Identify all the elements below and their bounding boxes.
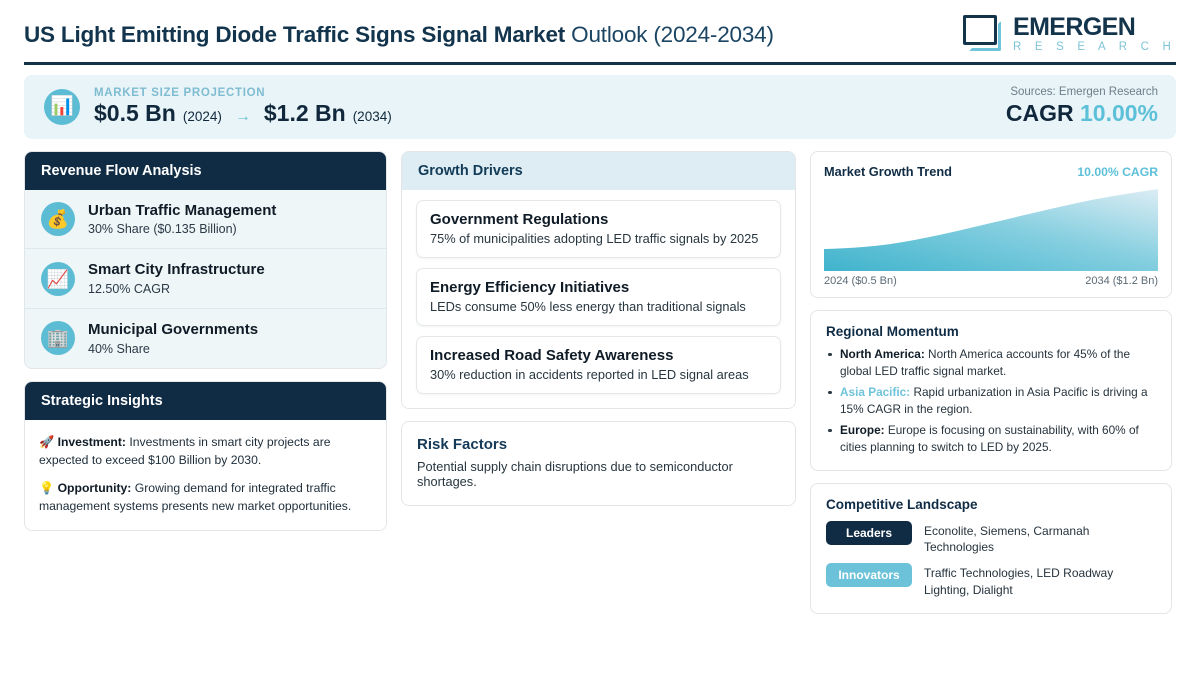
competitive-landscape-title: Competitive Landscape xyxy=(826,497,1156,512)
revenue-row-text: Urban Traffic Management 30% Share ($0.1… xyxy=(88,202,276,237)
revenue-row-name: Municipal Governments xyxy=(88,321,258,340)
innovators-badge: Innovators xyxy=(826,563,912,587)
right-column: Market Growth Trend 10.00% CAGR xyxy=(810,151,1172,614)
chart-increasing-icon: 📈 xyxy=(41,262,75,296)
regional-item: Asia Pacific: Rapid urbanization in Asia… xyxy=(826,384,1156,418)
market-size-start-value: $0.5 Bn xyxy=(94,100,176,127)
strategic-insights-title: Strategic Insights xyxy=(25,382,386,420)
growth-driver-name: Increased Road Safety Awareness xyxy=(430,347,767,364)
insight-item: 🚀 Investment: Investments in smart city … xyxy=(39,433,372,470)
regional-item-region: North America: xyxy=(840,347,925,361)
chart-axis-labels: 2024 ($0.5 Bn) 2034 ($1.2 Bn) xyxy=(824,275,1158,287)
growth-driver-item: Energy Efficiency Initiatives LEDs consu… xyxy=(416,268,781,326)
risk-factors-card: Risk Factors Potential supply chain disr… xyxy=(401,421,796,506)
chart-title: Market Growth Trend xyxy=(824,164,952,179)
competitive-row: Leaders Econolite, Siemens, Carmanah Tec… xyxy=(826,521,1156,555)
regional-momentum-list: North America: North America accounts fo… xyxy=(826,346,1156,457)
competitive-row: Innovators Traffic Technologies, LED Roa… xyxy=(826,563,1156,597)
banner-text-group: MARKET SIZE PROJECTION $0.5 Bn (2024) → … xyxy=(94,87,392,127)
risk-factors-title: Risk Factors xyxy=(417,436,780,453)
cagr-value: 10.00% xyxy=(1080,100,1158,126)
growth-driver-item: Government Regulations 75% of municipali… xyxy=(416,200,781,258)
regional-item-region: Europe: xyxy=(840,423,885,437)
growth-driver-detail: 75% of municipalities adopting LED traff… xyxy=(430,231,767,246)
market-size-end-year: (2034) xyxy=(353,109,392,124)
revenue-row: 💰 Urban Traffic Management 30% Share ($0… xyxy=(25,190,386,250)
regional-item-text: Europe is focusing on sustainability, wi… xyxy=(840,423,1139,454)
page-title: US Light Emitting Diode Traffic Signs Si… xyxy=(24,21,774,48)
banner-figures: $0.5 Bn (2024) → $1.2 Bn (2034) xyxy=(94,100,392,127)
revenue-flow-title: Revenue Flow Analysis xyxy=(25,152,386,190)
chart-header: Market Growth Trend 10.00% CAGR xyxy=(824,164,1158,179)
revenue-row-text: Municipal Governments 40% Share xyxy=(88,321,258,356)
growth-driver-item: Increased Road Safety Awareness 30% redu… xyxy=(416,336,781,394)
page-title-subtitle: Outlook (2024-2034) xyxy=(565,22,774,47)
growth-drivers-card: Growth Drivers Government Regulations 75… xyxy=(401,151,796,409)
brand-logo: EMERGEN R E S E A R C H xyxy=(961,15,1176,54)
banner-label: MARKET SIZE PROJECTION xyxy=(94,87,392,99)
light-bulb-icon: 💡 xyxy=(39,481,54,495)
chart-svg xyxy=(824,189,1158,271)
growth-driver-name: Government Regulations xyxy=(430,211,767,228)
revenue-flow-card: Revenue Flow Analysis 💰 Urban Traffic Ma… xyxy=(24,151,387,369)
infographic-page: US Light Emitting Diode Traffic Signs Si… xyxy=(0,0,1200,700)
growth-drivers-body: Government Regulations 75% of municipali… xyxy=(402,190,795,408)
growth-driver-detail: 30% reduction in accidents reported in L… xyxy=(430,367,767,382)
chart-cagr-label: 10.00% CAGR xyxy=(1077,165,1158,179)
revenue-row: 🏢 Municipal Governments 40% Share xyxy=(25,309,386,368)
growth-drivers-title: Growth Drivers xyxy=(402,152,795,190)
growth-driver-name: Energy Efficiency Initiatives xyxy=(430,279,767,296)
revenue-row-name: Smart City Infrastructure xyxy=(88,261,265,280)
strategic-insights-body: 🚀 Investment: Investments in smart city … xyxy=(25,420,386,530)
revenue-row-detail: 40% Share xyxy=(88,342,258,356)
sources-label: Sources: Emergen Research xyxy=(1006,86,1158,98)
header-divider xyxy=(24,62,1176,65)
growth-driver-detail: LEDs consume 50% less energy than tradit… xyxy=(430,299,767,314)
revenue-row: 📈 Smart City Infrastructure 12.50% CAGR xyxy=(25,249,386,309)
page-title-main: US Light Emitting Diode Traffic Signs Si… xyxy=(24,22,565,47)
logo-wordmark: EMERGEN R E S E A R C H xyxy=(1013,15,1176,54)
money-bag-icon: 💰 xyxy=(41,202,75,236)
market-growth-trend-card: Market Growth Trend 10.00% CAGR xyxy=(810,151,1172,298)
leaders-companies: Econolite, Siemens, Carmanah Technologie… xyxy=(924,521,1156,555)
leaders-badge: Leaders xyxy=(826,521,912,545)
bar-chart-icon: 📊 xyxy=(44,89,80,125)
office-building-icon: 🏢 xyxy=(41,321,75,355)
revenue-row-name: Urban Traffic Management xyxy=(88,202,276,221)
market-size-banner: 📊 MARKET SIZE PROJECTION $0.5 Bn (2024) … xyxy=(24,75,1176,139)
arrow-right-icon: → xyxy=(229,108,257,126)
insight-label: Investment: xyxy=(58,435,126,449)
logo-square-icon xyxy=(961,15,1003,53)
regional-momentum-title: Regional Momentum xyxy=(826,324,1156,339)
revenue-row-text: Smart City Infrastructure 12.50% CAGR xyxy=(88,261,265,296)
left-column: Revenue Flow Analysis 💰 Urban Traffic Ma… xyxy=(24,151,387,531)
insight-label: Opportunity: xyxy=(58,481,132,495)
cagr-display: CAGR 10.00% xyxy=(1006,100,1158,127)
content-columns: Revenue Flow Analysis 💰 Urban Traffic Ma… xyxy=(24,151,1176,614)
banner-left-group: 📊 MARKET SIZE PROJECTION $0.5 Bn (2024) … xyxy=(44,87,392,127)
strategic-insights-card: Strategic Insights 🚀 Investment: Investm… xyxy=(24,381,387,531)
market-size-end-value: $1.2 Bn xyxy=(264,100,346,127)
chart-area-path xyxy=(824,189,1158,271)
revenue-row-detail: 12.50% CAGR xyxy=(88,282,265,296)
regional-item-region: Asia Pacific: xyxy=(840,385,910,399)
logo-primary-text: EMERGEN xyxy=(1013,15,1176,40)
competitive-landscape-card: Competitive Landscape Leaders Econolite,… xyxy=(810,483,1172,614)
risk-factors-text: Potential supply chain disruptions due t… xyxy=(417,459,780,489)
regional-item: North America: North America accounts fo… xyxy=(826,346,1156,380)
rocket-icon: 🚀 xyxy=(39,435,54,449)
logo-secondary-text: R E S E A R C H xyxy=(1013,42,1176,54)
revenue-row-detail: 30% Share ($0.135 Billion) xyxy=(88,222,276,236)
regional-momentum-card: Regional Momentum North America: North A… xyxy=(810,310,1172,472)
market-size-start-year: (2024) xyxy=(183,109,222,124)
middle-column: Growth Drivers Government Regulations 75… xyxy=(401,151,796,506)
innovators-companies: Traffic Technologies, LED Roadway Lighti… xyxy=(924,563,1156,597)
regional-item: Europe: Europe is focusing on sustainabi… xyxy=(826,422,1156,456)
page-header: US Light Emitting Diode Traffic Signs Si… xyxy=(24,0,1176,60)
chart-axis-start: 2024 ($0.5 Bn) xyxy=(824,275,897,287)
banner-right-group: Sources: Emergen Research CAGR 10.00% xyxy=(1006,86,1158,127)
chart-axis-end: 2034 ($1.2 Bn) xyxy=(1085,275,1158,287)
cagr-word: CAGR xyxy=(1006,100,1074,126)
growth-area-chart xyxy=(824,189,1158,271)
insight-item: 💡 Opportunity: Growing demand for integr… xyxy=(39,479,372,516)
